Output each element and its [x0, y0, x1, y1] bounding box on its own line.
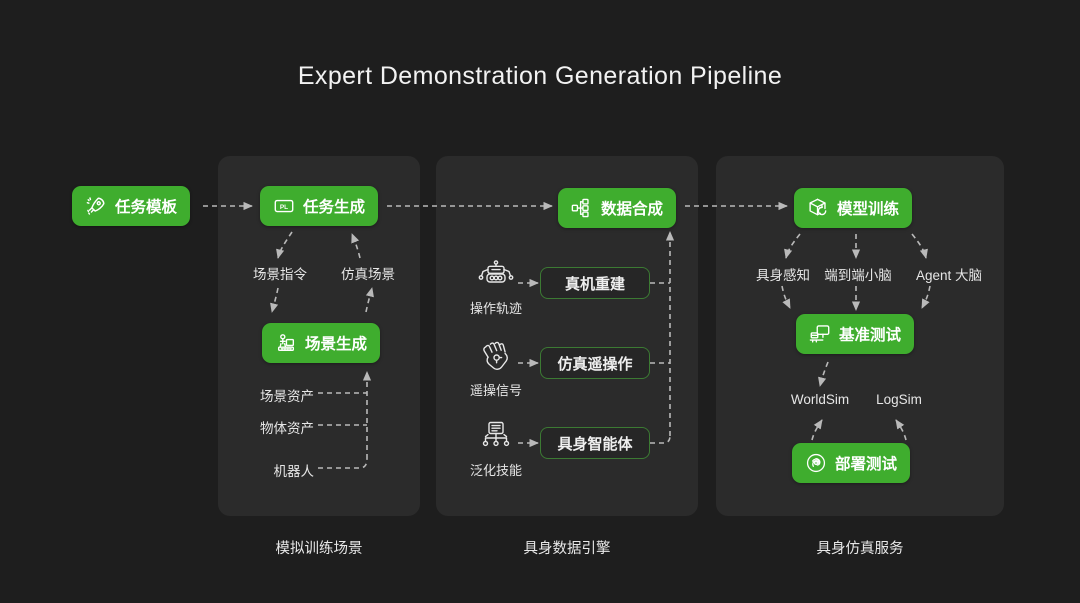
cube-loop-icon: [807, 197, 829, 219]
swirl-circle-icon: [805, 452, 827, 474]
node-label: 基准测试: [839, 323, 901, 345]
pipeline-diagram: Expert Demonstration Generation Pipeline: [0, 0, 1080, 603]
node-label: 场景生成: [305, 332, 367, 354]
edge-label-agent-brain: Agent 大脑: [900, 264, 998, 284]
node-label: 任务模板: [115, 195, 177, 217]
icon-label: 遥操信号: [468, 380, 524, 399]
edge-label-scene-instruction: 场景指令: [238, 263, 322, 283]
node-label: 部署测试: [835, 452, 897, 474]
node-label: 具身智能体: [557, 433, 632, 454]
edge-label-end-to-end-cerebellum: 端到端小脑: [812, 264, 904, 284]
dataflow-icon: [571, 197, 593, 219]
node-deployment-test[interactable]: 部署测试: [792, 443, 910, 483]
input-label-scene-assets: 场景资产: [238, 385, 314, 405]
node-benchmark-test[interactable]: 基准测试: [796, 314, 914, 354]
node-real-machine-reconstruction[interactable]: 真机重建: [540, 267, 650, 299]
input-label-object-assets: 物体资产: [238, 417, 314, 437]
edge-label-simulation-scene: 仿真场景: [326, 263, 410, 283]
pl-frame-icon: PL: [273, 195, 295, 217]
node-data-synthesis[interactable]: 数据合成: [558, 188, 676, 228]
node-embodied-agent[interactable]: 具身智能体: [540, 427, 650, 459]
node-label: 数据合成: [601, 197, 663, 219]
panel-caption-right: 具身仿真服务: [716, 537, 1004, 558]
network-icon: [476, 420, 516, 456]
panel-caption-middle: 具身数据引擎: [436, 537, 698, 558]
node-scene-generation[interactable]: 场景生成: [262, 323, 380, 363]
input-generalization-skill: 泛化技能: [468, 420, 524, 479]
panel-caption-left: 模拟训练场景: [218, 537, 420, 558]
node-label: 任务生成: [303, 195, 365, 217]
node-task-template[interactable]: 任务模板: [72, 186, 190, 226]
input-teleoperation-signal: 遥操信号: [468, 340, 524, 399]
icon-label: 操作轨迹: [468, 298, 524, 317]
node-label: 模型训练: [837, 197, 899, 219]
monitor-bench-icon: [809, 323, 831, 345]
icon-label: 泛化技能: [468, 460, 524, 479]
node-label: 真机重建: [565, 273, 625, 294]
edge-label-logsim: LogSim: [862, 392, 936, 407]
rocket-icon: [85, 195, 107, 217]
node-label: 仿真遥操作: [557, 353, 632, 374]
input-label-robot: 机器人: [238, 460, 314, 480]
node-simulated-teleoperation[interactable]: 仿真遥操作: [540, 347, 650, 379]
edge-label-worldsim: WorldSim: [776, 392, 864, 407]
page-title: Expert Demonstration Generation Pipeline: [0, 62, 1080, 91]
node-task-generation[interactable]: PL 任务生成: [260, 186, 378, 226]
scene-robot-icon: [275, 332, 297, 354]
node-model-training[interactable]: 模型训练: [794, 188, 912, 228]
input-operation-trajectory: 操作轨迹: [468, 258, 524, 317]
glove-icon: [476, 340, 516, 376]
svg-text:PL: PL: [280, 204, 288, 211]
robot-icon: [476, 258, 516, 294]
